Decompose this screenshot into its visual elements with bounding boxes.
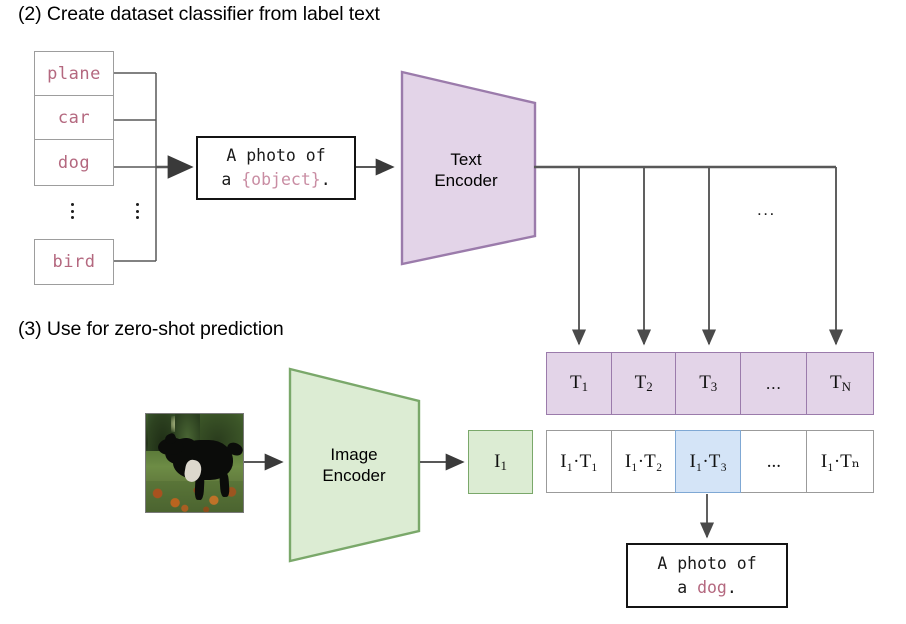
similarity-cell[interactable]: I₁·Tₙ bbox=[806, 430, 874, 493]
image-encoder-block[interactable]: Image Encoder bbox=[286, 365, 426, 565]
label-text-bird: bird bbox=[53, 252, 96, 272]
prompt-line-2-suffix: . bbox=[321, 170, 331, 189]
image-encoder-caption: Image Encoder bbox=[284, 385, 424, 545]
text-embedding-cell[interactable]: T2 bbox=[611, 352, 677, 415]
input-photo[interactable] bbox=[145, 413, 244, 513]
prediction-output-box[interactable]: A photo of a dog. bbox=[626, 543, 788, 608]
text-encoder-block[interactable]: Text Encoder bbox=[398, 68, 538, 268]
prediction-line-2-suffix: . bbox=[727, 578, 737, 597]
label-text-car: car bbox=[58, 108, 90, 128]
heading-step-2: (2) Create dataset classifier from label… bbox=[18, 5, 380, 25]
text-embedding-row: T1 T2 T3 ... TN bbox=[546, 352, 874, 415]
label-text-dog: dog bbox=[58, 153, 90, 173]
label-box-bird[interactable]: bird bbox=[34, 239, 114, 285]
text-embedding-cell[interactable]: TN bbox=[806, 352, 874, 415]
prompt-line-2-prefix: a bbox=[221, 170, 241, 189]
bus-ellipsis: ... bbox=[757, 200, 776, 220]
label-box-dog[interactable]: dog bbox=[34, 139, 114, 186]
text-embedding-sub: 3 bbox=[711, 379, 717, 394]
vertical-ellipsis-bracket bbox=[136, 203, 140, 219]
image-embedding-box[interactable]: I1 bbox=[468, 430, 533, 494]
label-box-car[interactable]: car bbox=[34, 95, 114, 140]
text-embedding-cell[interactable]: T3 bbox=[675, 352, 741, 415]
text-embedding-cell[interactable]: T1 bbox=[546, 352, 612, 415]
text-embedding-label: T1 bbox=[570, 372, 588, 395]
text-embedding-cell-ellipsis: ... bbox=[740, 352, 808, 415]
prediction-line-1: A photo of bbox=[657, 552, 756, 576]
image-embedding-sub: 1 bbox=[500, 457, 506, 472]
label-box-plane[interactable]: plane bbox=[34, 51, 114, 96]
text-embedding-sub: N bbox=[842, 379, 851, 394]
diagram-canvas: (2) Create dataset classifier from label… bbox=[0, 0, 906, 624]
similarity-row: I₁·T₁ I₁·T₂ I₁·T₃ ... I₁·Tₙ bbox=[546, 430, 874, 493]
text-embedding-label: T3 bbox=[699, 372, 717, 395]
prediction-line-2: a dog. bbox=[677, 576, 737, 600]
prediction-line-2-prefix: a bbox=[677, 578, 697, 597]
text-embedding-label: T2 bbox=[635, 372, 653, 395]
similarity-cell-selected[interactable]: I₁·T₃ bbox=[675, 430, 741, 493]
image-encoder-line-2: Encoder bbox=[322, 465, 385, 486]
label-bracket bbox=[114, 73, 156, 261]
image-encoder-line-1: Image bbox=[330, 444, 377, 465]
similarity-cell[interactable]: I₁·T₁ bbox=[546, 430, 612, 493]
similarity-cell[interactable]: I₁·T₂ bbox=[611, 430, 677, 493]
text-encoder-line-1: Text bbox=[450, 149, 481, 170]
bus-drop-lines bbox=[579, 167, 836, 344]
text-encoder-line-2: Encoder bbox=[434, 170, 497, 191]
similarity-cell-ellipsis: ... bbox=[740, 430, 808, 493]
text-embedding-sub: 2 bbox=[646, 379, 652, 394]
prompt-template-box[interactable]: A photo of a {object}. bbox=[196, 136, 356, 200]
text-encoder-caption: Text Encoder bbox=[396, 90, 536, 250]
text-embedding-sub: 1 bbox=[582, 379, 588, 394]
prompt-object-token: {object} bbox=[241, 170, 320, 189]
heading-step-3: (3) Use for zero-shot prediction bbox=[18, 320, 284, 340]
prompt-line-1: A photo of bbox=[226, 144, 325, 168]
text-embedding-ellipsis: ... bbox=[766, 374, 782, 394]
prompt-line-2: a {object}. bbox=[221, 168, 330, 192]
text-embedding-label: TN bbox=[830, 372, 851, 395]
image-embedding-label: I1 bbox=[494, 451, 507, 474]
label-text-plane: plane bbox=[47, 64, 101, 84]
vertical-ellipsis-labels bbox=[71, 203, 75, 219]
prediction-class-token: dog bbox=[697, 578, 727, 597]
